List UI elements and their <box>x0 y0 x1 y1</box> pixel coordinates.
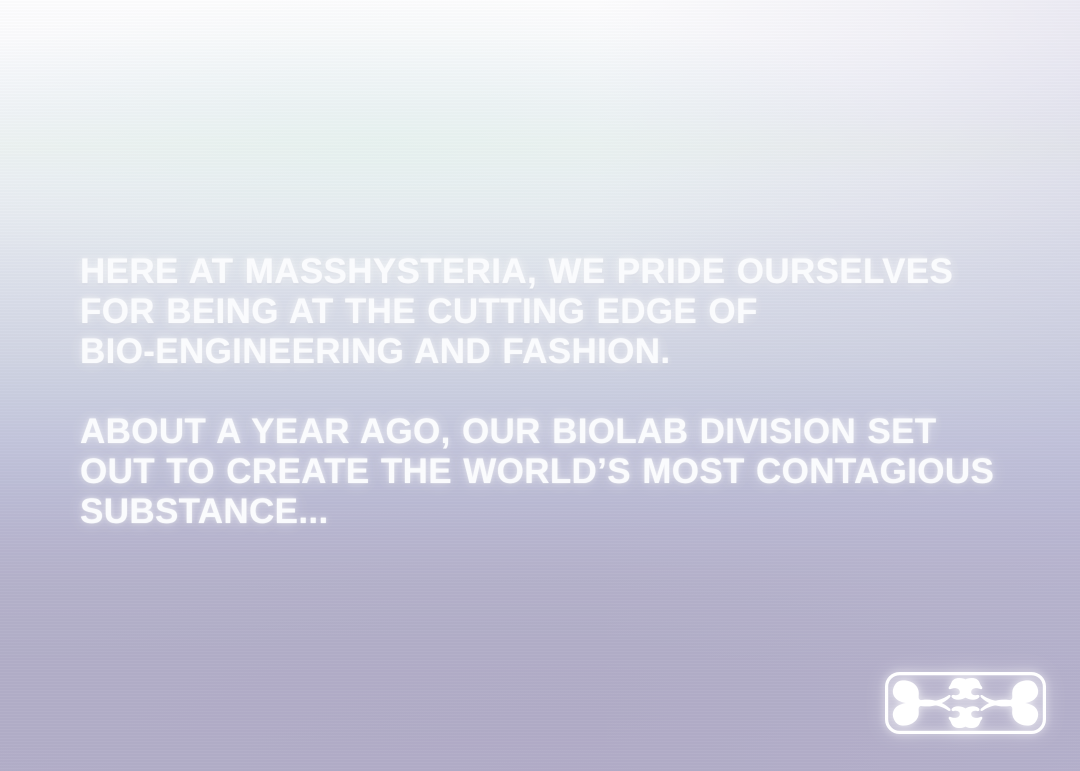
logo-ornament <box>893 678 1038 728</box>
masshysteria-logo <box>884 671 1047 735</box>
caption-paragraph-2: ABOUT A YEAR AGO, OUR BIOLAB DIVISION SE… <box>80 412 1020 532</box>
caption-block: HERE AT MASSHYSTERIA, WE PRIDE OURSELVES… <box>80 252 1020 532</box>
caption-paragraph-1: HERE AT MASSHYSTERIA, WE PRIDE OURSELVES… <box>80 252 1020 372</box>
title-card-scene: HERE AT MASSHYSTERIA, WE PRIDE OURSELVES… <box>0 0 1080 771</box>
